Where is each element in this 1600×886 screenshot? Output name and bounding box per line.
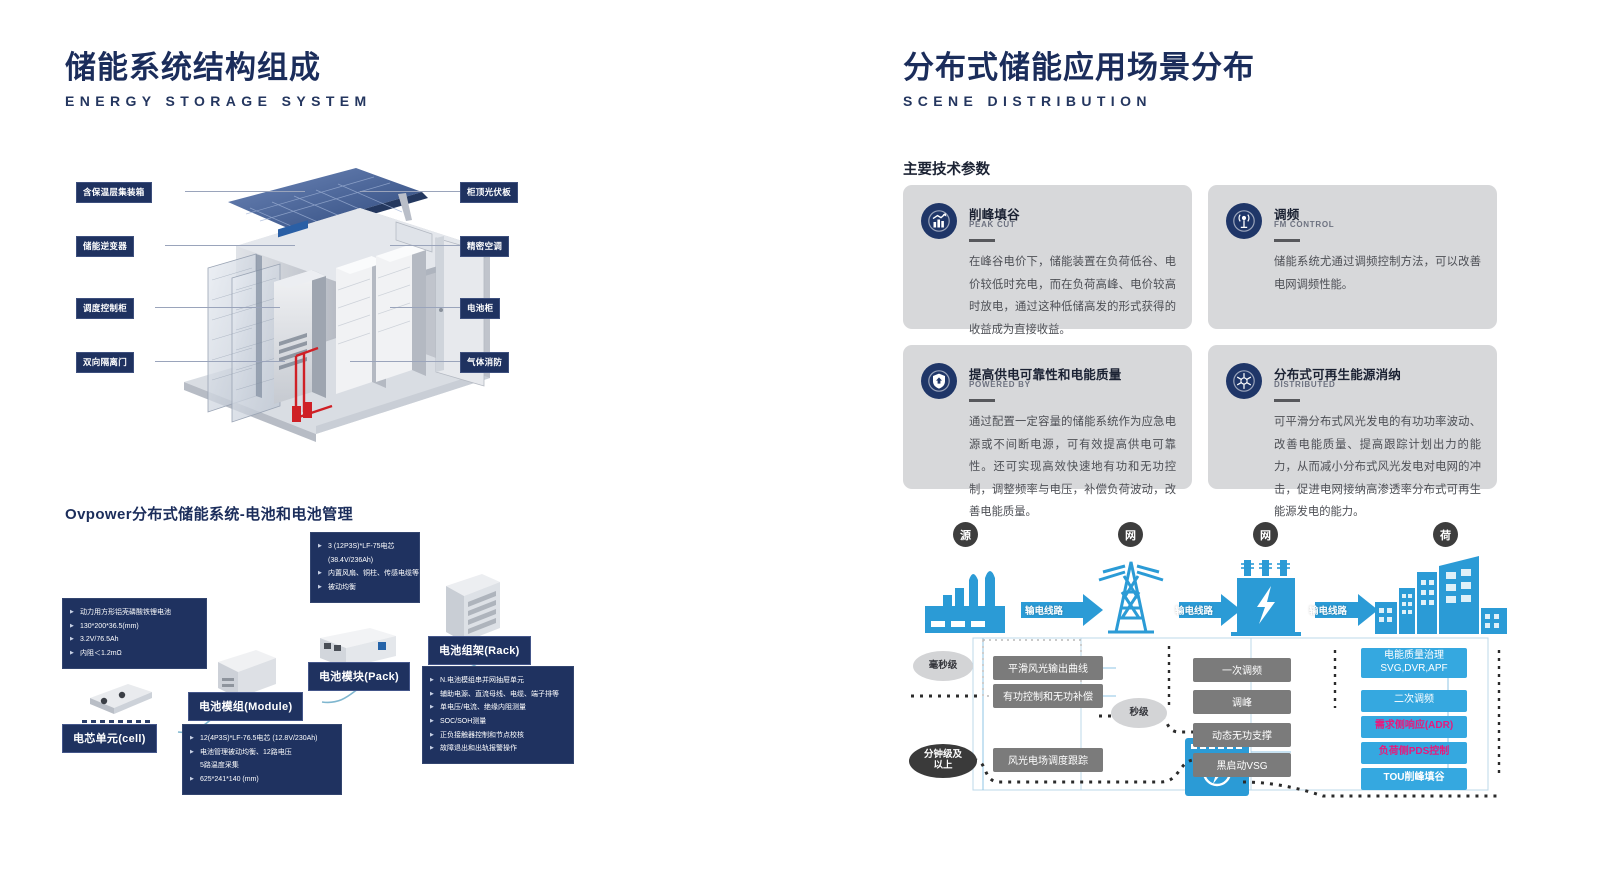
spec-pack-3: 被动均衡 xyxy=(318,581,411,595)
spec-module-1: 电池管理被动均衡、12路电压 xyxy=(190,746,333,760)
callout-insulated-container: 含保温层集装箱 xyxy=(76,182,152,203)
spec-box-pack: 3 (12P3S)*LF-75电芯 (38.4V/236Ah) 内置风扇、铜柱、… xyxy=(310,532,420,603)
dashbar-cell xyxy=(82,720,154,723)
card-title-en: DISTRIBUTED xyxy=(1274,380,1335,389)
leader-line-5 xyxy=(360,191,460,192)
load-item-0[interactable]: 电能质量治理 SVG,DVR,APF xyxy=(1361,648,1467,678)
leader-line-6 xyxy=(390,245,460,246)
insulated-wall-panels xyxy=(208,254,280,422)
right-heading-cn: 分布式储能应用场景分布 xyxy=(903,50,1255,86)
card-rule xyxy=(969,399,995,402)
leader-line-8 xyxy=(350,361,460,362)
snowflake-icon xyxy=(1226,363,1262,399)
node-badge-load: 荷 xyxy=(1433,522,1458,547)
spec-rack-2: 单电压/电流、绝缘内阻测量 xyxy=(430,701,565,715)
leader-line-3 xyxy=(155,307,280,308)
page-root: 储能系统结构组成 ENERGY STORAGE SYSTEM xyxy=(0,0,1600,886)
callout-storage-inverter: 储能逆变器 xyxy=(76,236,134,257)
leader-line-2 xyxy=(165,245,295,246)
stage-label-cell: 电芯单元(cell) xyxy=(62,724,157,753)
spec-rack-1: 辅助电源、直流母线、电缆、端子排等 xyxy=(430,688,565,702)
timescale-minute: 分钟级及 以上 xyxy=(909,744,977,778)
right-heading-en: SCENE DISTRIBUTION xyxy=(903,93,1255,109)
card-distributed-renewables[interactable]: 分布式可再生能源消纳 DISTRIBUTED 可平滑分布式风光发电的有功功率波动… xyxy=(1208,345,1497,489)
right-section-heading: 分布式储能应用场景分布 SCENE DISTRIBUTION xyxy=(903,50,1255,109)
arrow-label-2: 输电线路 xyxy=(1175,603,1213,617)
spec-module-2: 5路温度采集 xyxy=(190,759,333,773)
bar-chart-icon xyxy=(921,203,957,239)
source-item-0[interactable]: 平滑风光输出曲线 xyxy=(993,656,1103,680)
callout-rooftop-pv: 柜顶光伏板 xyxy=(460,182,518,203)
leader-line-4 xyxy=(155,361,285,362)
grid-item-3[interactable]: 黑启动VSG xyxy=(1193,753,1291,777)
grid-item-2[interactable]: 动态无功支撑 xyxy=(1193,723,1291,747)
card-body: 储能系统尤通过调频控制方法，可以改善电网调频性能。 xyxy=(1274,251,1481,296)
card-title-en: POWERED BY xyxy=(969,380,1031,389)
leader-line-7 xyxy=(390,307,460,308)
battery-chain-diagram: 动力用方形铝壳磷酸铁锂电池 130*200*36.5(mm) 3.2V/76.5… xyxy=(60,530,580,800)
card-rule xyxy=(1274,239,1300,242)
spec-cell-1: 130*200*36.5(mm) xyxy=(70,620,198,634)
broadcast-icon xyxy=(1226,203,1262,239)
load-item-1[interactable]: 二次调频 xyxy=(1361,690,1467,712)
spec-pack-2: 内置风扇、铜柱、传感电缆等 xyxy=(318,567,411,581)
load-item-4[interactable]: TOU削峰填谷 xyxy=(1361,768,1467,790)
cell-photo xyxy=(82,678,158,718)
spec-box-rack: N.电池模组串并网抽屉单元 辅助电源、直流母线、电缆、端子排等 单电压/电流、绝… xyxy=(422,666,574,764)
spec-cell-2: 3.2V/76.5Ah xyxy=(70,633,198,647)
spec-module-3: 625*241*140 (mm) xyxy=(190,773,333,787)
source-item-2[interactable]: 风光电场调度跟踪 xyxy=(993,748,1103,772)
substation-icon xyxy=(1231,560,1301,636)
fire-cylinder xyxy=(292,406,301,422)
transmission-tower-icon xyxy=(1099,562,1163,632)
spec-box-cell: 动力用方形铝壳磷酸铁锂电池 130*200*36.5(mm) 3.2V/76.5… xyxy=(62,598,207,669)
card-body: 通过配置一定容量的储能系统作为应急电源或不间断电源，可有效提高供电可靠性。还可实… xyxy=(969,411,1176,524)
timescale-millisecond: 毫秒级 xyxy=(913,651,973,681)
stage-label-pack: 电池模块(Pack) xyxy=(308,662,410,691)
source-item-1[interactable]: 有功控制和无功补偿 xyxy=(993,684,1103,708)
node-badge-source: 源 xyxy=(953,522,978,547)
spec-pack-0: 3 (12P3S)*LF-75电芯 xyxy=(318,540,411,554)
card-rule xyxy=(969,239,995,242)
card-fm-control[interactable]: 调频 FM CONTROL 储能系统尤通过调频控制方法，可以改善电网调频性能。 xyxy=(1208,185,1497,329)
card-title-en: FM CONTROL xyxy=(1274,220,1334,229)
callout-gas-fire: 气体消防 xyxy=(460,352,509,373)
node-badge-grid-1: 网 xyxy=(1118,522,1143,547)
stage-label-module: 电池模组(Module) xyxy=(188,692,303,721)
arrow-label-1: 输电线路 xyxy=(1025,603,1063,617)
left-heading-en: ENERGY STORAGE SYSTEM xyxy=(65,93,372,109)
left-heading-cn: 储能系统结构组成 xyxy=(65,50,372,86)
battery-chain-title: Ovpower分布式储能系统-电池和电池管理 xyxy=(65,503,353,524)
energy-storage-container-figure: 含保温层集装箱 储能逆变器 调度控制柜 双向隔离门 柜顶光伏板 精密空调 电池柜… xyxy=(60,150,560,450)
arrow-label-3: 输电线路 xyxy=(1309,603,1347,617)
callout-battery-cabinet: 电池柜 xyxy=(460,298,500,319)
node-badge-grid-2: 网 xyxy=(1253,522,1278,547)
card-peak-cut[interactable]: 削峰填谷 PEAK CUT 在峰谷电价下，储能装置在负荷低谷、电价较低时充电，而… xyxy=(903,185,1192,329)
leader-line-1 xyxy=(185,191,305,192)
grid-item-1[interactable]: 调峰 xyxy=(1193,690,1291,714)
callout-precision-ac: 精密空调 xyxy=(460,236,509,257)
left-section-heading: 储能系统结构组成 ENERGY STORAGE SYSTEM xyxy=(65,50,372,109)
spec-rack-3: SOC/SOH测量 xyxy=(430,715,565,729)
card-power-quality[interactable]: 提高供电可靠性和电能质量 POWERED BY 通过配置一定容量的储能系统作为应… xyxy=(903,345,1192,489)
spec-rack-0: N.电池模组串并网抽屉单元 xyxy=(430,674,565,688)
timescale-second: 秒级 xyxy=(1111,698,1167,728)
stage-label-rack: 电池组架(Rack) xyxy=(428,636,531,665)
source-grid-load-flow-diagram: 源 网 网 荷 输电线路 输电线路 输电线路 毫秒级 秒级 分钟级及 以上 平滑… xyxy=(903,520,1528,810)
spec-cell-3: 内阻＜1.2mΩ xyxy=(70,647,198,661)
spec-rack-5: 故障退出和出轨报警操作 xyxy=(430,742,565,756)
load-item-3[interactable]: 负荷侧PDS控制 xyxy=(1361,742,1467,764)
main-parameters-title: 主要技术参数 xyxy=(903,158,990,179)
card-rule xyxy=(1274,399,1300,402)
card-title-en: PEAK CUT xyxy=(969,220,1016,229)
city-buildings-icon xyxy=(1375,556,1507,634)
grid-item-0[interactable]: 一次调频 xyxy=(1193,658,1291,682)
spec-cell-0: 动力用方形铝壳磷酸铁锂电池 xyxy=(70,606,198,620)
spec-module-0: 12(4P3S)*LF-76.5电芯 (12.8V/230Ah) xyxy=(190,732,333,746)
callout-dispatch-cabinet: 调度控制柜 xyxy=(76,298,134,319)
spec-box-module: 12(4P3S)*LF-76.5电芯 (12.8V/230Ah) 电池管理被动均… xyxy=(182,724,342,795)
spec-rack-4: 正负接触器控制和节点校核 xyxy=(430,729,565,743)
callout-isolation-door: 双向隔离门 xyxy=(76,352,134,373)
card-body: 在峰谷电价下，储能装置在负荷低谷、电价较低时充电，而在负荷高峰、电价较高时放电，… xyxy=(969,251,1176,341)
power-plant-icon xyxy=(925,571,1005,633)
load-item-2[interactable]: 需求侧响应(ADR) xyxy=(1361,716,1467,738)
spec-pack-1: (38.4V/236Ah) xyxy=(318,554,411,568)
card-body: 可平滑分布式风光发电的有功功率波动、改善电能质量、提高跟踪计划出力的能力，从而减… xyxy=(1274,411,1481,524)
shield-icon xyxy=(921,363,957,399)
